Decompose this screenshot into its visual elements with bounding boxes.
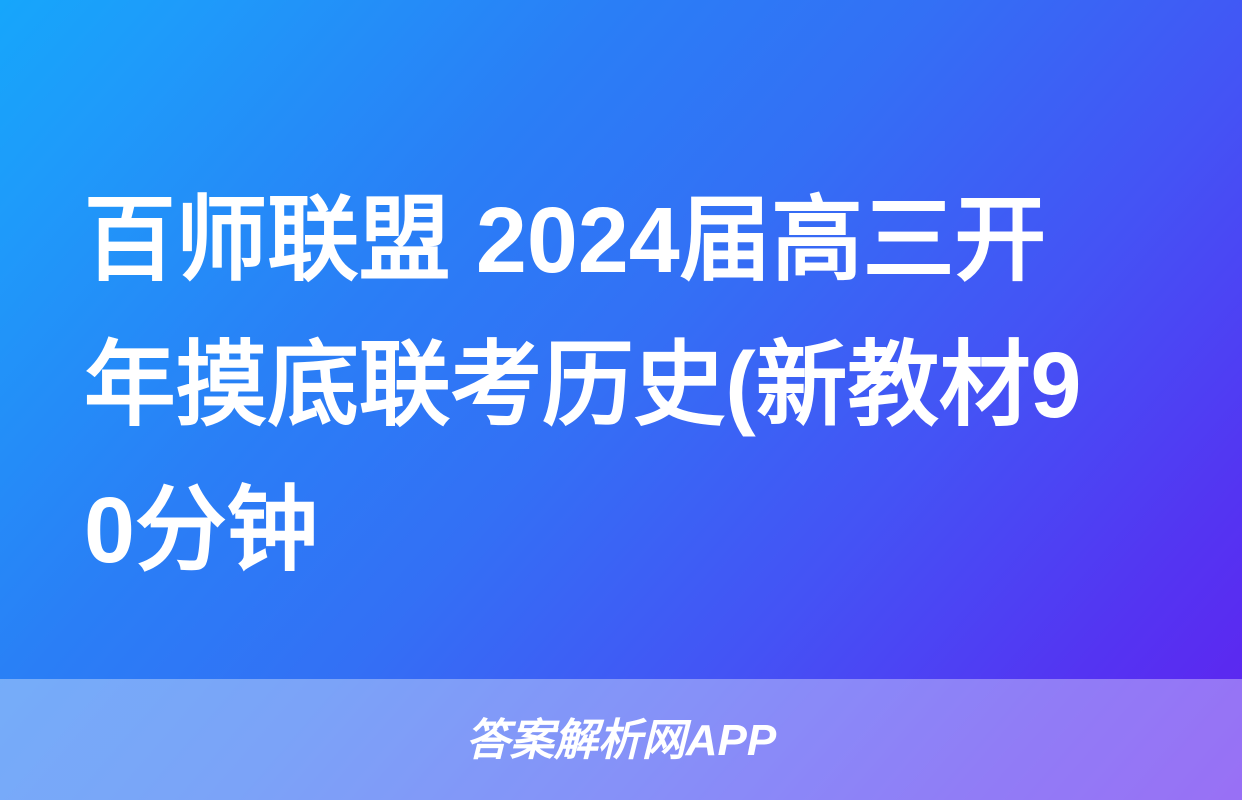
title-line-1: 百师联盟 2024届高三开 — [84, 168, 1154, 313]
title-line-3: 0分钟 — [84, 458, 1154, 603]
title-block: 百师联盟 2024届高三开 年摸底联考历史(新教材9 0分钟 — [84, 168, 1170, 603]
footer-watermark-band: 答案解析网APP — [0, 679, 1242, 800]
title-line-2: 年摸底联考历史(新教材9 — [84, 313, 1154, 458]
promo-cover-card: 百师联盟 2024届高三开 年摸底联考历史(新教材9 0分钟 答案解析网APP — [0, 0, 1242, 800]
app-watermark-label: 答案解析网APP — [466, 719, 776, 763]
